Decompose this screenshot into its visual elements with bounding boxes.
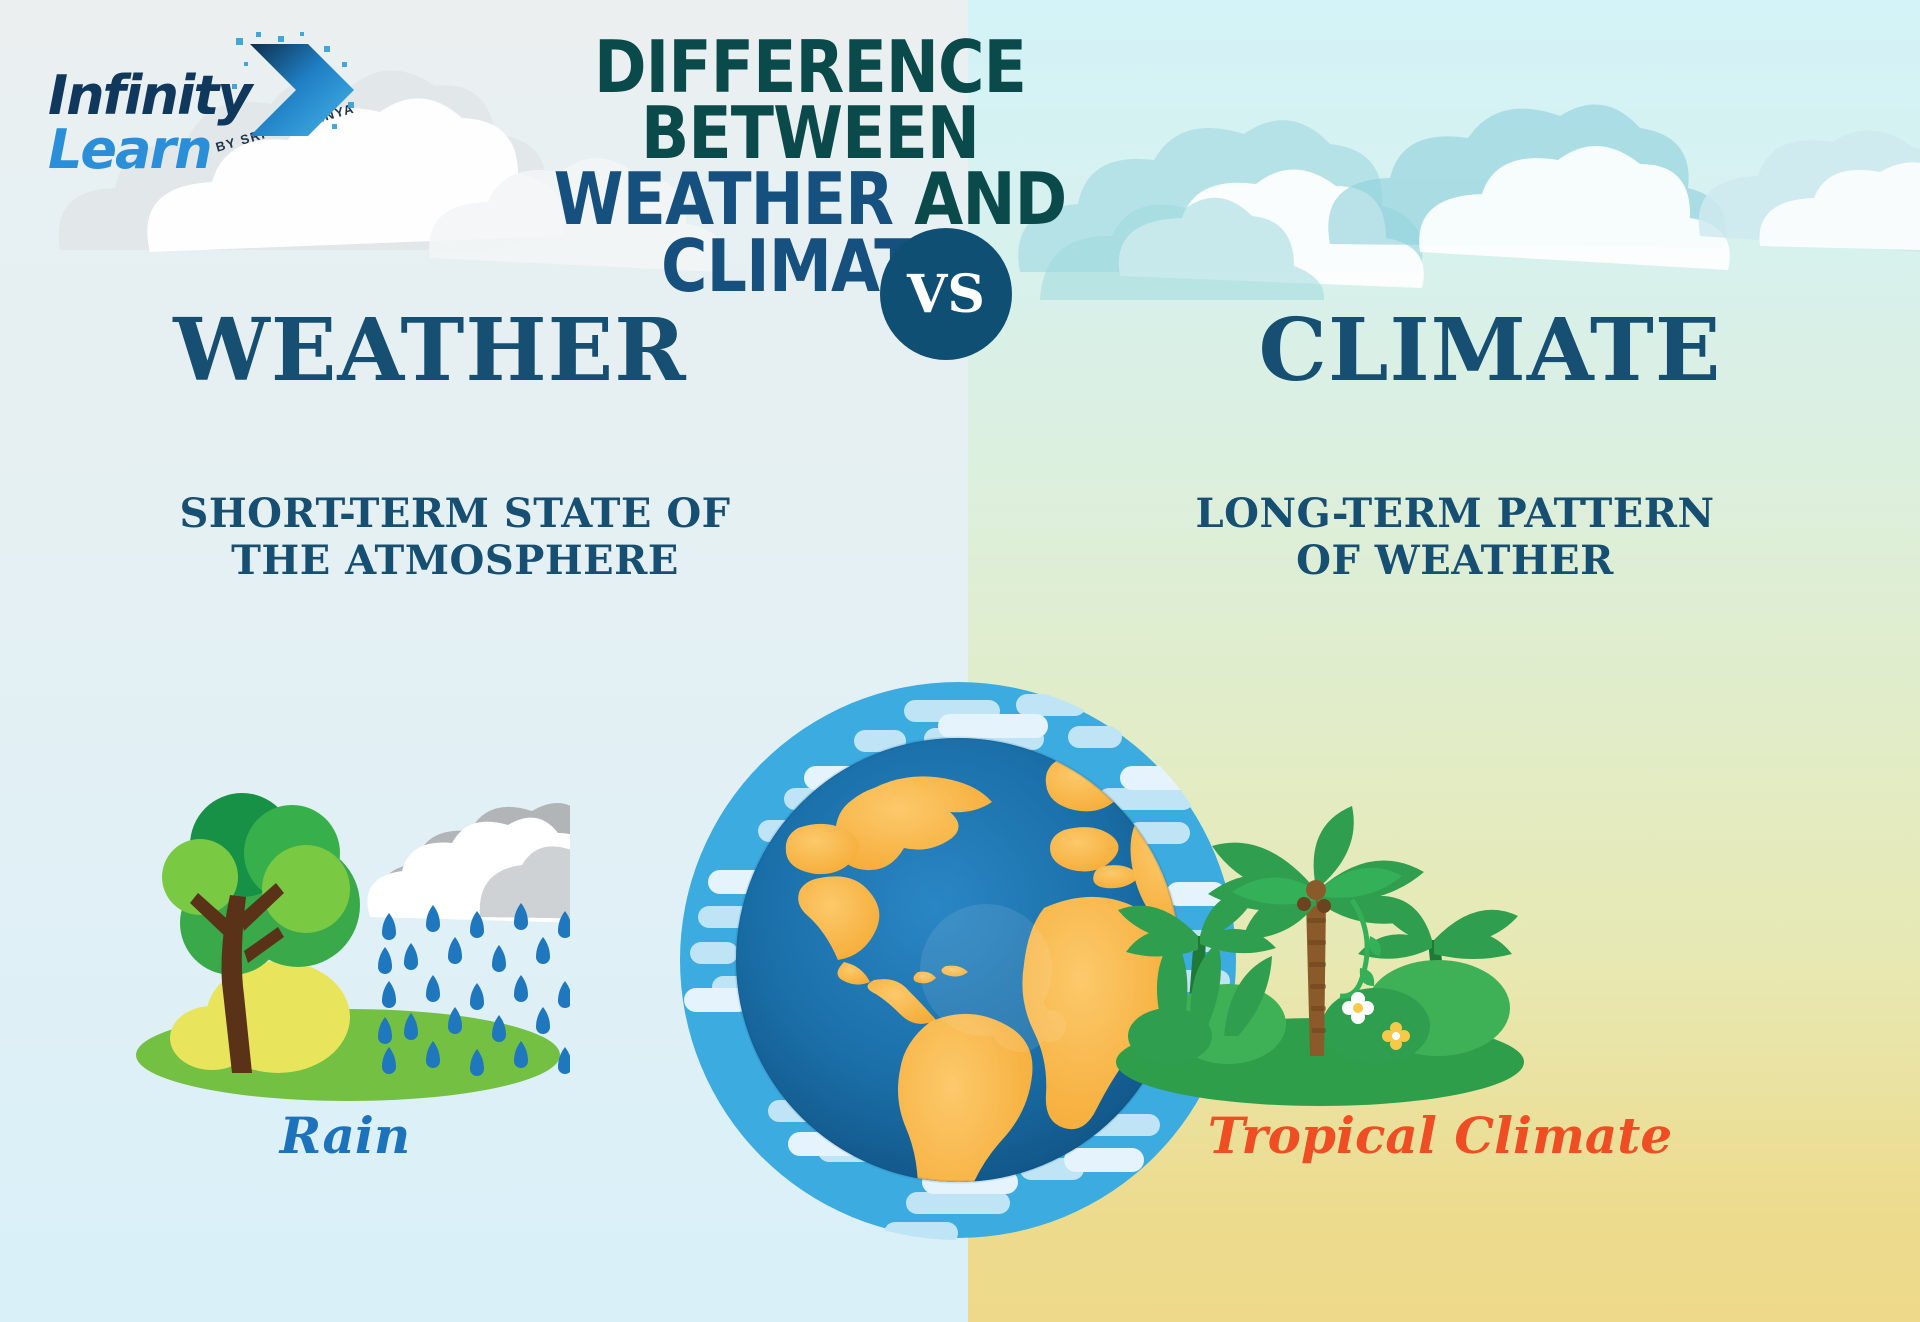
yellow-bush [170,961,350,1073]
tree-rain-cloud-illustration [120,755,570,1105]
heading-weather: WEATHER [0,300,860,401]
caption-climate-line-1: LONG-TERM PATTERN [1060,490,1850,537]
logo-text-learn: Learn [48,118,211,181]
title-line-1: DIFFERENCE BETWEEN [432,34,1189,166]
versus-label: VS [907,264,985,325]
caption-weather-line-1: SHORT-TERM STATE OF [60,490,850,537]
tropical-palm-jungle-illustration [1108,740,1528,1110]
rain-cloud [367,803,570,923]
caption-climate-line-2: OF WEATHER [1060,537,1850,584]
heading-climate: CLIMATE [1060,300,1920,401]
label-tropical-climate: Tropical Climate [1130,1106,1750,1165]
caption-climate-definition: LONG-TERM PATTERN OF WEATHER [1060,490,1850,584]
infographic-canvas: Infinity Learn BY SRI CHAITANYA DIFFE [0,0,1920,1322]
title-line-2: WEATHER AND CLIMATE [432,166,1189,298]
logo-chevron-icon [232,32,372,152]
page-title: DIFFERENCE BETWEEN WEATHER AND CLIMATE [432,34,1189,299]
caption-weather-definition: SHORT-TERM STATE OF THE ATMOSPHERE [60,490,850,584]
versus-badge: VS [880,228,1012,360]
label-rain: Rain [130,1106,560,1165]
brand-logo[interactable]: Infinity Learn BY SRI CHAITANYA [40,22,360,172]
caption-weather-line-2: THE ATMOSPHERE [60,537,850,584]
